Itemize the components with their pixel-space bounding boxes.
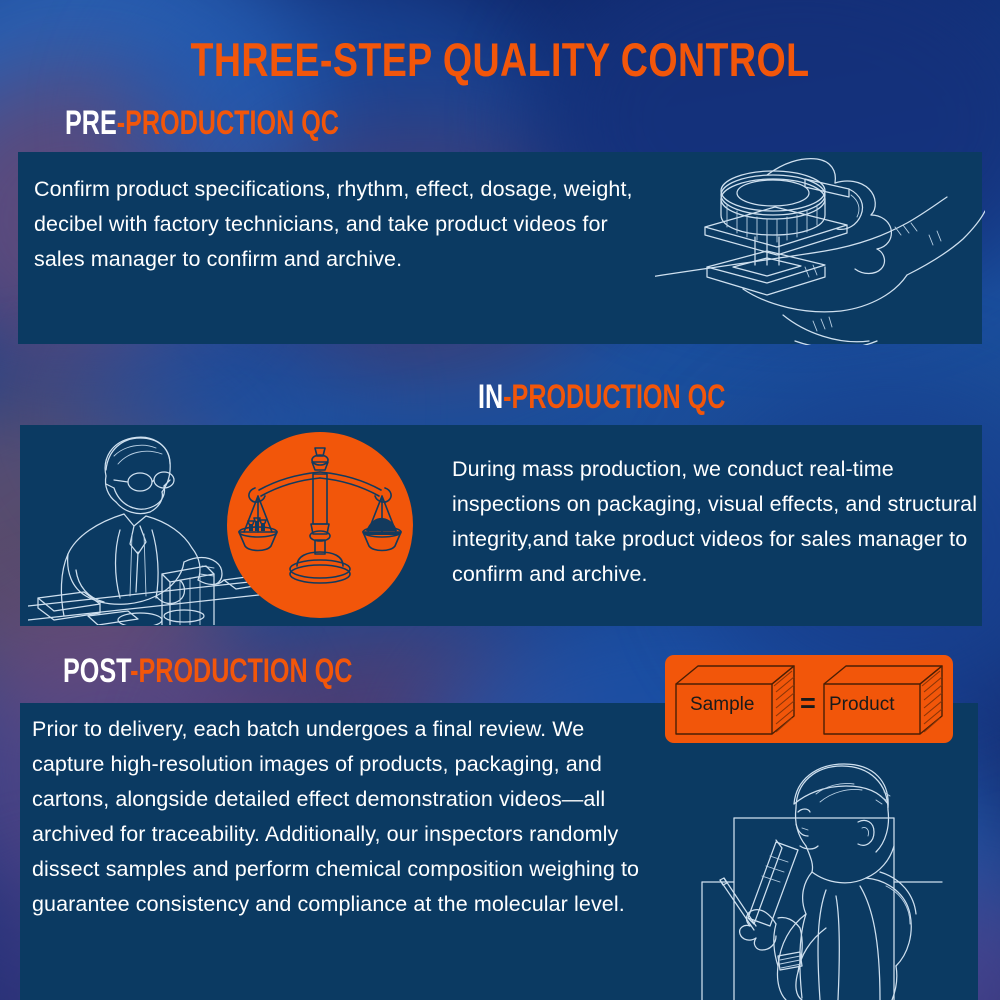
step-1-heading: PRE-PRODUCTION QC: [65, 104, 339, 143]
balance-scale-icon: [227, 432, 413, 618]
step-2-heading-suffix: -PRODUCTION QC: [503, 378, 725, 416]
step-2-heading-prefix: IN: [478, 378, 503, 416]
product-box-label: Product: [829, 694, 894, 716]
sample-box-label: Sample: [690, 694, 754, 716]
step-1-heading-prefix: PRE: [65, 104, 117, 142]
step-3-heading-prefix: POST: [63, 652, 130, 690]
step-2-heading: IN-PRODUCTION QC: [478, 378, 725, 417]
infographic-root: THREE-STEP QUALITY CONTROL PRE-PRODUCTIO…: [0, 0, 1000, 1000]
step-3-heading-suffix: -PRODUCTION QC: [130, 652, 352, 690]
step-3-body-text: Prior to delivery, each batch undergoes …: [32, 712, 657, 922]
step-1-body-text: Confirm product specifications, rhythm, …: [34, 172, 634, 277]
step-3-heading: POST-PRODUCTION QC: [63, 652, 352, 691]
equals-symbol: =: [800, 688, 816, 719]
step-1-heading-suffix: -PRODUCTION QC: [117, 104, 339, 142]
man-with-clipboard-illustration: [690, 760, 980, 1000]
step-2-body-text: During mass production, we conduct real-…: [452, 452, 982, 592]
page-title: THREE-STEP QUALITY CONTROL: [100, 32, 900, 87]
hand-holding-component-illustration: [655, 155, 985, 345]
